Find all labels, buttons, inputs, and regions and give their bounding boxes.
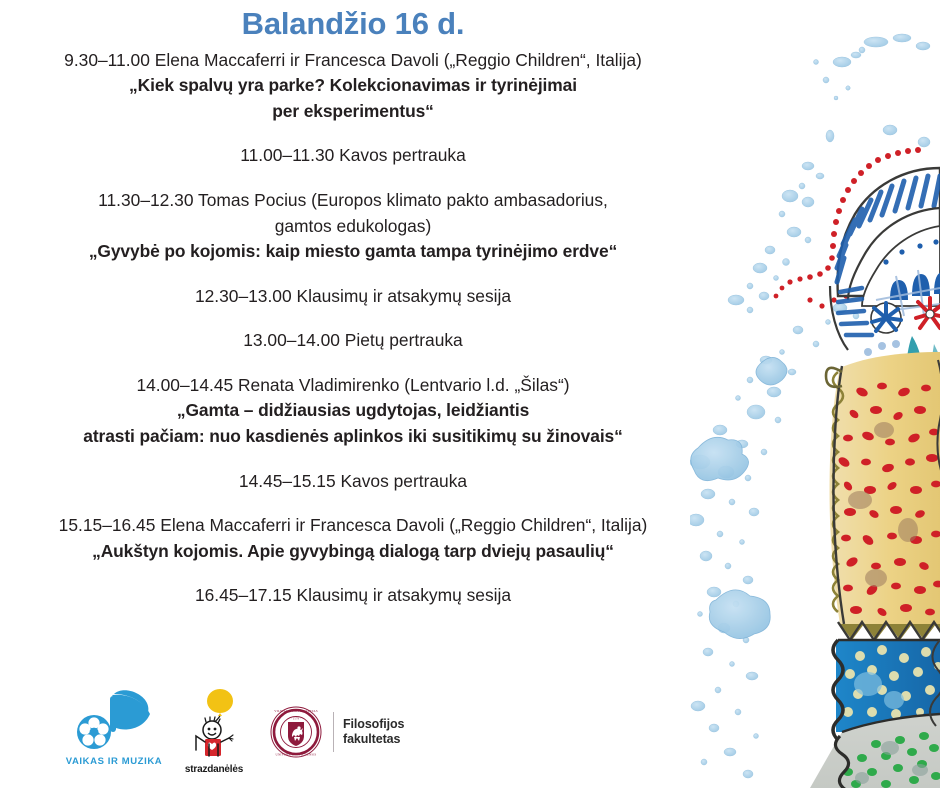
vu-ff-line-1: Filosofijos xyxy=(343,717,404,731)
svg-text:· 1579 ·: · 1579 · xyxy=(291,717,301,720)
schedule-panel: Balandžio 16 d. 9.30–11.00 Elena Maccafe… xyxy=(0,0,706,670)
schedule-session: 9.30–11.00 Elena Maccaferri ir Francesca… xyxy=(0,48,706,125)
logo-caption-vaikas-ir-muzika: VAIKAS IR MUZIKA xyxy=(62,756,166,767)
schedule-session: 13.00–14.00 Pietų pertrauka xyxy=(0,328,706,354)
session-line: gamtos edukologas) xyxy=(0,214,706,240)
schedule-session: 15.15–16.45 Elena Maccaferri ir Francesc… xyxy=(0,513,706,564)
logo-caption-vu-filosofijos-fakultetas: Filosofijos fakultetas xyxy=(343,717,404,748)
child-with-balloon-icon xyxy=(176,688,252,758)
svg-text:UNIVERSITAS VILNENSIS: UNIVERSITAS VILNENSIS xyxy=(276,753,317,757)
session-line: atrasti pačiam: nuo kasdienės aplinkos i… xyxy=(0,424,706,450)
poster-canvas: Balandžio 16 d. 9.30–11.00 Elena Maccafe… xyxy=(0,0,940,788)
logo-vaikas-ir-muzika: VAIKAS IR MUZIKA xyxy=(62,688,166,767)
logo-vu-filosofijos-fakultetas: VILNIAUS UNIVERSITETAS UNIVERSITAS VILNE… xyxy=(268,704,438,760)
vu-ff-line-2: fakultetas xyxy=(343,732,400,746)
logo-strazdaneles: strazdanėlės xyxy=(176,688,252,775)
session-line: „Kiek spalvų yra parke? Kolekcionavimas … xyxy=(0,73,706,99)
session-line: 16.45–17.15 Klausimų ir atsakymų sesija xyxy=(0,583,706,609)
svg-text:VILNIAUS UNIVERSITETAS: VILNIAUS UNIVERSITETAS xyxy=(274,709,318,713)
session-line: per eksperimentus“ xyxy=(0,99,706,125)
session-line: 11.30–12.30 Tomas Pocius (Europos klimat… xyxy=(0,188,706,214)
session-line: „Gamta – didžiausias ugdytojas, leidžian… xyxy=(0,398,706,424)
schedule-session: 11.00–11.30 Kavos pertrauka xyxy=(0,143,706,169)
schedule-session: 16.45–17.15 Klausimų ir atsakymų sesija xyxy=(0,583,706,609)
session-line: „Gyvybė po kojomis: kaip miesto gamta ta… xyxy=(0,239,706,265)
session-line: 14.45–15.15 Kavos pertrauka xyxy=(0,469,706,495)
session-line: 13.00–14.00 Pietų pertrauka xyxy=(0,328,706,354)
childrens-watercolour-illustration xyxy=(690,0,940,788)
session-line: „Aukštyn kojomis. Apie gyvybingą dialogą… xyxy=(0,539,706,565)
schedule-session: 14.00–14.45 Renata Vladimirenko (Lentvar… xyxy=(0,373,706,450)
session-line: 14.00–14.45 Renata Vladimirenko (Lentvar… xyxy=(0,373,706,399)
music-note-flower-icon xyxy=(62,688,166,750)
page-title: Balandžio 16 d. xyxy=(0,6,706,42)
vilnius-university-seal-icon: VILNIAUS UNIVERSITETAS UNIVERSITAS VILNE… xyxy=(268,704,324,760)
session-line: 9.30–11.00 Elena Maccaferri ir Francesca… xyxy=(0,48,706,74)
sponsor-logo-strip: VAIKAS IR MUZIKA xyxy=(0,688,706,788)
logo-divider xyxy=(333,712,334,752)
session-line: 15.15–16.45 Elena Maccaferri ir Francesc… xyxy=(0,513,706,539)
session-line: 11.00–11.30 Kavos pertrauka xyxy=(0,143,706,169)
logo-caption-strazdaneles: strazdanėlės xyxy=(176,764,252,775)
session-line: 12.30–13.00 Klausimų ir atsakymų sesija xyxy=(0,284,706,310)
schedule-session: 11.30–12.30 Tomas Pocius (Europos klimat… xyxy=(0,188,706,265)
schedule-session: 12.30–13.00 Klausimų ir atsakymų sesija xyxy=(0,284,706,310)
schedule-session: 14.45–15.15 Kavos pertrauka xyxy=(0,469,706,495)
